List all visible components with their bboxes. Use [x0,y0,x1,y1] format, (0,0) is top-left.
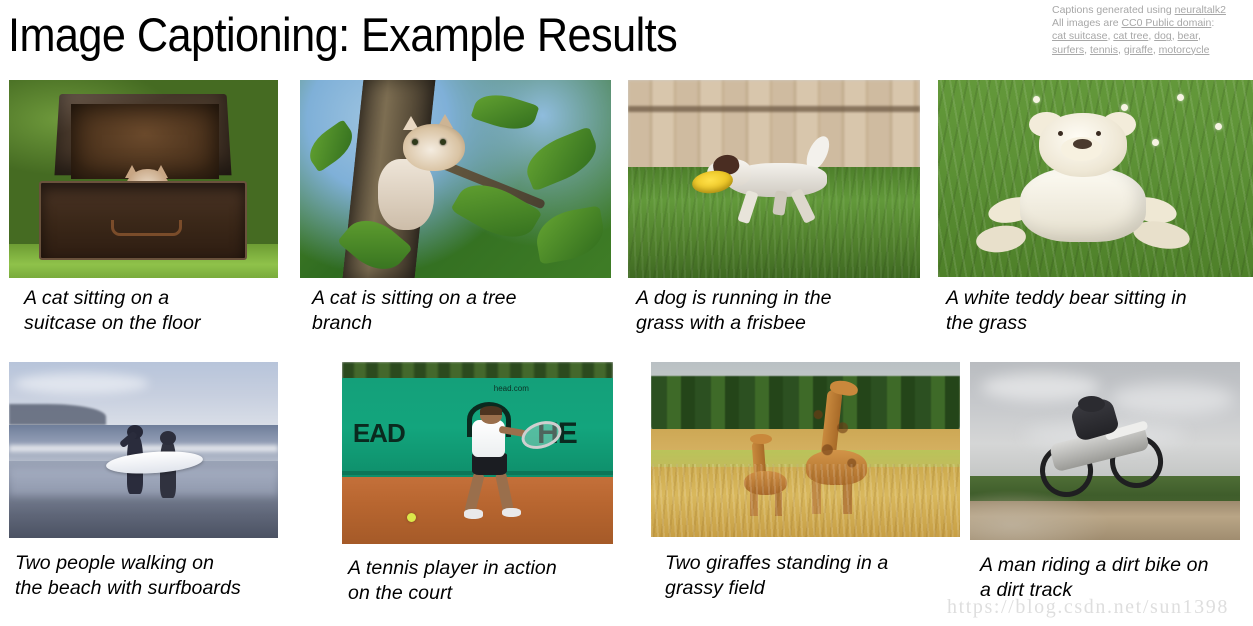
giraffe-calf-head [750,434,772,445]
result-cell-6: EAD head.com HE A tennis player in actio… [342,362,613,544]
attribution-line-1: Captions generated using neuraltalk2 [1052,4,1244,17]
banner-url-text: head.com [494,384,529,393]
dust-cloud [970,490,1110,540]
watermark-text: https://blog.csdn.net/sun1398 [947,596,1229,619]
neuraltalk2-link[interactable]: neuraltalk2 [1175,4,1226,16]
result-cell-8: A man riding a dirt bike on a dirt track [970,362,1240,540]
attribution-text-prefix: Captions generated using [1052,4,1175,16]
daisy-flower [1033,96,1040,103]
surfer-head-right [160,431,176,445]
dirt-bike-photo [970,362,1240,540]
suitcase-lid-interior [71,104,219,179]
cloud [14,373,149,394]
rider-helmet [1078,396,1105,412]
caption-text: A dog is running in the grass with a fri… [636,286,926,336]
caption-text: A cat sitting on a suitcase on the floor [24,286,284,336]
player-shoe-left [464,509,483,518]
dog-frisbee-photo [628,80,920,278]
cc0-public-domain-link[interactable]: CC0 Public domain [1121,17,1211,29]
result-cell-5: Two people walking on the beach with sur… [9,362,278,538]
result-cell-1: A cat sitting on a suitcase on the floor [9,80,278,278]
headland [9,404,106,425]
attribution-colon: : [1211,17,1214,29]
cat-tree-photo [300,80,611,278]
link-bear[interactable]: bear [1178,30,1198,42]
wave-foam [9,445,278,452]
player-hair [480,406,502,415]
link-surfers[interactable]: surfers [1052,44,1084,56]
result-cell-3: A dog is running in the grass with a fri… [628,80,920,278]
giraffes-field-photo [651,362,960,537]
tennis-ball [407,513,416,522]
result-cell-7: Two giraffes standing in a grassy field [651,362,960,537]
page-title: Image Captioning: Example Results [8,9,677,61]
suitcase-handle [111,220,182,237]
caption-text: Two giraffes standing in a grassy field [665,551,955,601]
link-dog[interactable]: dog [1154,30,1172,42]
bear-eye-left [1058,131,1063,136]
link-cat-suitcase[interactable]: cat suitcase [1052,30,1107,42]
attribution-text-prefix-2: All images are [1052,17,1121,29]
sep-4: , [1198,30,1201,42]
surfers-beach-photo [9,362,278,538]
link-tennis[interactable]: tennis [1090,44,1118,56]
caption-text: A tennis player in action on the court [348,556,618,606]
tennis-player-photo: EAD head.com HE [342,362,613,544]
player-shoe-right [502,508,521,517]
bear-body-sweater [1020,167,1146,242]
cloud [981,373,1100,401]
bear-eye-right [1096,131,1101,136]
caption-text: A white teddy bear sitting in the grass [946,286,1251,336]
teddy-bear-photo [938,80,1253,277]
attribution-line-3: cat suitcase, cat tree, dog, bear, [1052,30,1244,43]
caption-text: Two people walking on the beach with sur… [15,551,290,601]
attribution-line-2: All images are CC0 Public domain: [1052,17,1244,30]
fence-rail [628,106,920,112]
kitten-head [403,124,465,172]
cat-suitcase-photo [9,80,278,278]
attribution-block: Captions generated using neuraltalk2 All… [1052,4,1244,57]
grass-texture [651,464,960,538]
attribution-line-4: surfers, tennis, giraffe, motorcycle [1052,44,1244,57]
link-giraffe[interactable]: giraffe [1124,44,1153,56]
link-motorcycle[interactable]: motorcycle [1159,44,1210,56]
banner-text-left: EAD [353,418,405,449]
result-cell-2: A cat is sitting on a tree branch [300,80,611,278]
daisy-flower [1121,104,1128,111]
result-cell-4: A white teddy bear sitting in the grass [938,80,1253,277]
link-cat-tree[interactable]: cat tree [1113,30,1148,42]
caption-text: A cat is sitting on a tree branch [312,286,612,336]
wooden-fence [628,80,920,171]
